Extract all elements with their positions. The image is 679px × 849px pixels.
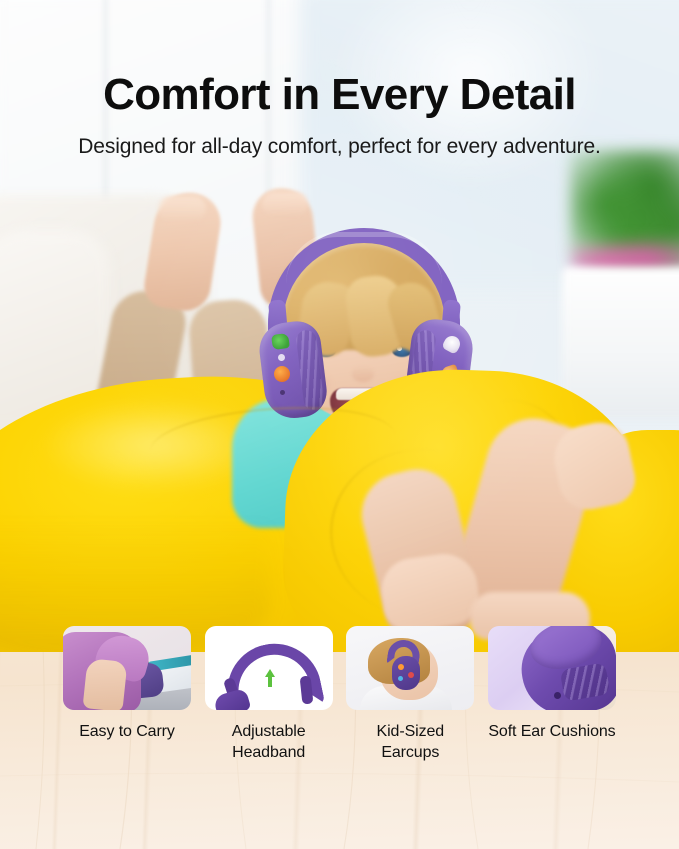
feature-item-soft-ear-cushions[interactable]: Soft Ear Cushions [488,626,616,763]
adjust-arrow-icon [263,668,277,688]
small-white-sticker-icon [278,354,285,361]
feature-label-easy-to-carry: Easy to Carry [63,721,191,742]
profile-earcup [392,656,420,690]
feature-thumbnail-adjustable-headband[interactable] [205,626,333,710]
child-toes-right [262,192,308,216]
feature-thumbnail-row: Easy to Carry Adjustable Headband [63,626,616,763]
headphone-headband-sheen [286,232,442,284]
childs-hand [82,658,127,710]
headphone-mic-port [280,390,285,395]
plant-pot [562,267,679,417]
dinosaur-sticker-icon [271,333,290,350]
headband-slider-right [299,676,313,705]
page-headline: Comfort in Every Detail [0,72,679,118]
orange-dot-sticker-icon [274,366,290,382]
earcup-port-hole [554,692,561,699]
product-feature-page: Comfort in Every Detail Designed for all… [0,0,679,849]
feature-thumbnail-easy-to-carry[interactable] [63,626,191,710]
feature-label-kid-sized-earcups: Kid-Sized Earcups [346,721,474,763]
child-nose [352,366,374,382]
feature-item-kid-sized-earcups[interactable]: Kid-Sized Earcups [346,626,474,763]
page-subheadline: Designed for all-day comfort, perfect fo… [0,133,679,160]
feature-label-soft-ear-cushions: Soft Ear Cushions [488,721,616,742]
feature-thumbnail-soft-ear-cushions[interactable] [488,626,616,710]
feature-item-adjustable-headband[interactable]: Adjustable Headband [205,626,333,763]
feature-thumbnail-kid-sized-earcups[interactable] [346,626,474,710]
child-toes-left [158,196,206,222]
feature-label-adjustable-headband: Adjustable Headband [205,721,333,763]
feature-item-easy-to-carry[interactable]: Easy to Carry [63,626,191,763]
